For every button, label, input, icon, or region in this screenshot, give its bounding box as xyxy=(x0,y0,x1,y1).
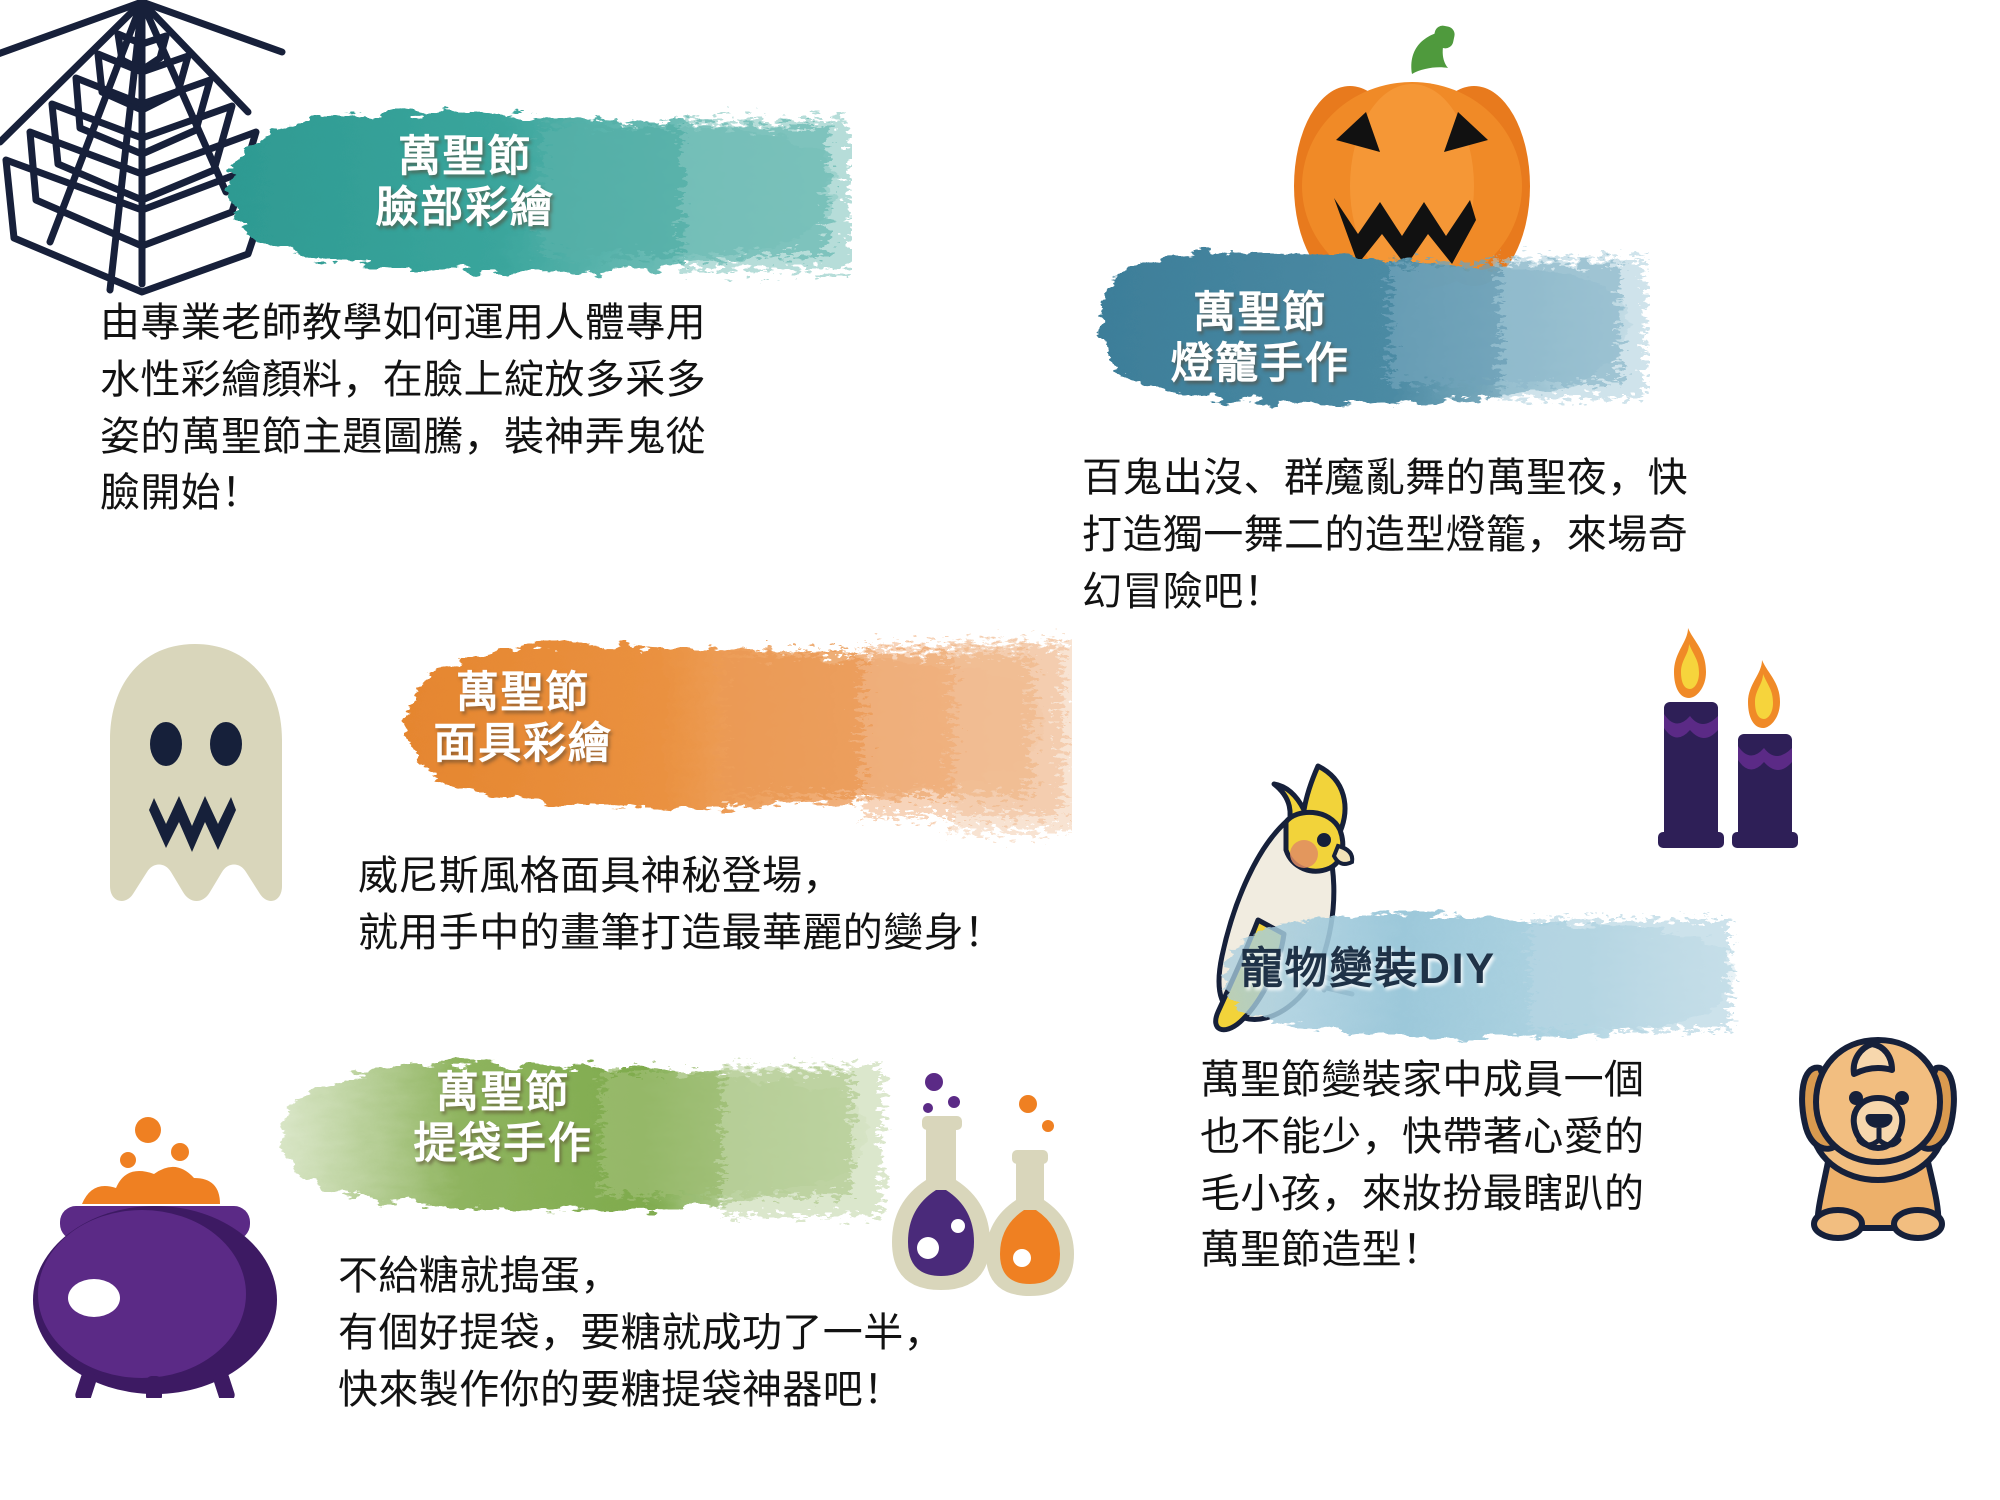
witch-cauldron-icon xyxy=(20,1108,300,1398)
section-title-face-painting: 萬聖節 臉部彩繪 xyxy=(300,132,630,233)
section-body-pet-costume-diy: 萬聖節變裝家中成員一個 也不能少，快帶著心愛的 毛小孩，來妝扮最瞎趴的 萬聖節造… xyxy=(1200,1052,1800,1279)
section-title-lantern-craft: 萬聖節 燈籠手作 xyxy=(1100,288,1420,389)
potion-flasks-icon xyxy=(876,1068,1096,1328)
dog-icon xyxy=(1776,948,1976,1248)
section-body-lantern-craft: 百鬼出沒、群魔亂舞的萬聖夜，快 打造獨一舞二的造型燈籠，來場奇 幻冒險吧！ xyxy=(1082,450,1722,620)
section-body-face-painting: 由專業老師教學如何運用人體專用 水性彩繪顏料，在臉上綻放多采多 姿的萬聖節主題圖… xyxy=(100,295,740,522)
section-title-pet-costume-diy: 寵物變裝DIY xyxy=(1240,944,1620,995)
candles-icon xyxy=(1636,628,1826,898)
section-body-mask-painting: 威尼斯風格面具神秘登場， 就用手中的畫筆打造最華麗的變身！ xyxy=(358,848,1188,962)
section-title-mask-painting: 萬聖節 面具彩繪 xyxy=(358,668,688,769)
ghost-icon xyxy=(100,640,290,925)
poster-canvas: 萬聖節 臉部彩繪 由專業老師教學如何運用人體專用 水性彩繪顏料，在臉上綻放多采多… xyxy=(0,0,2000,1500)
section-title-tote-bag-craft: 萬聖節 提袋手作 xyxy=(338,1068,668,1169)
